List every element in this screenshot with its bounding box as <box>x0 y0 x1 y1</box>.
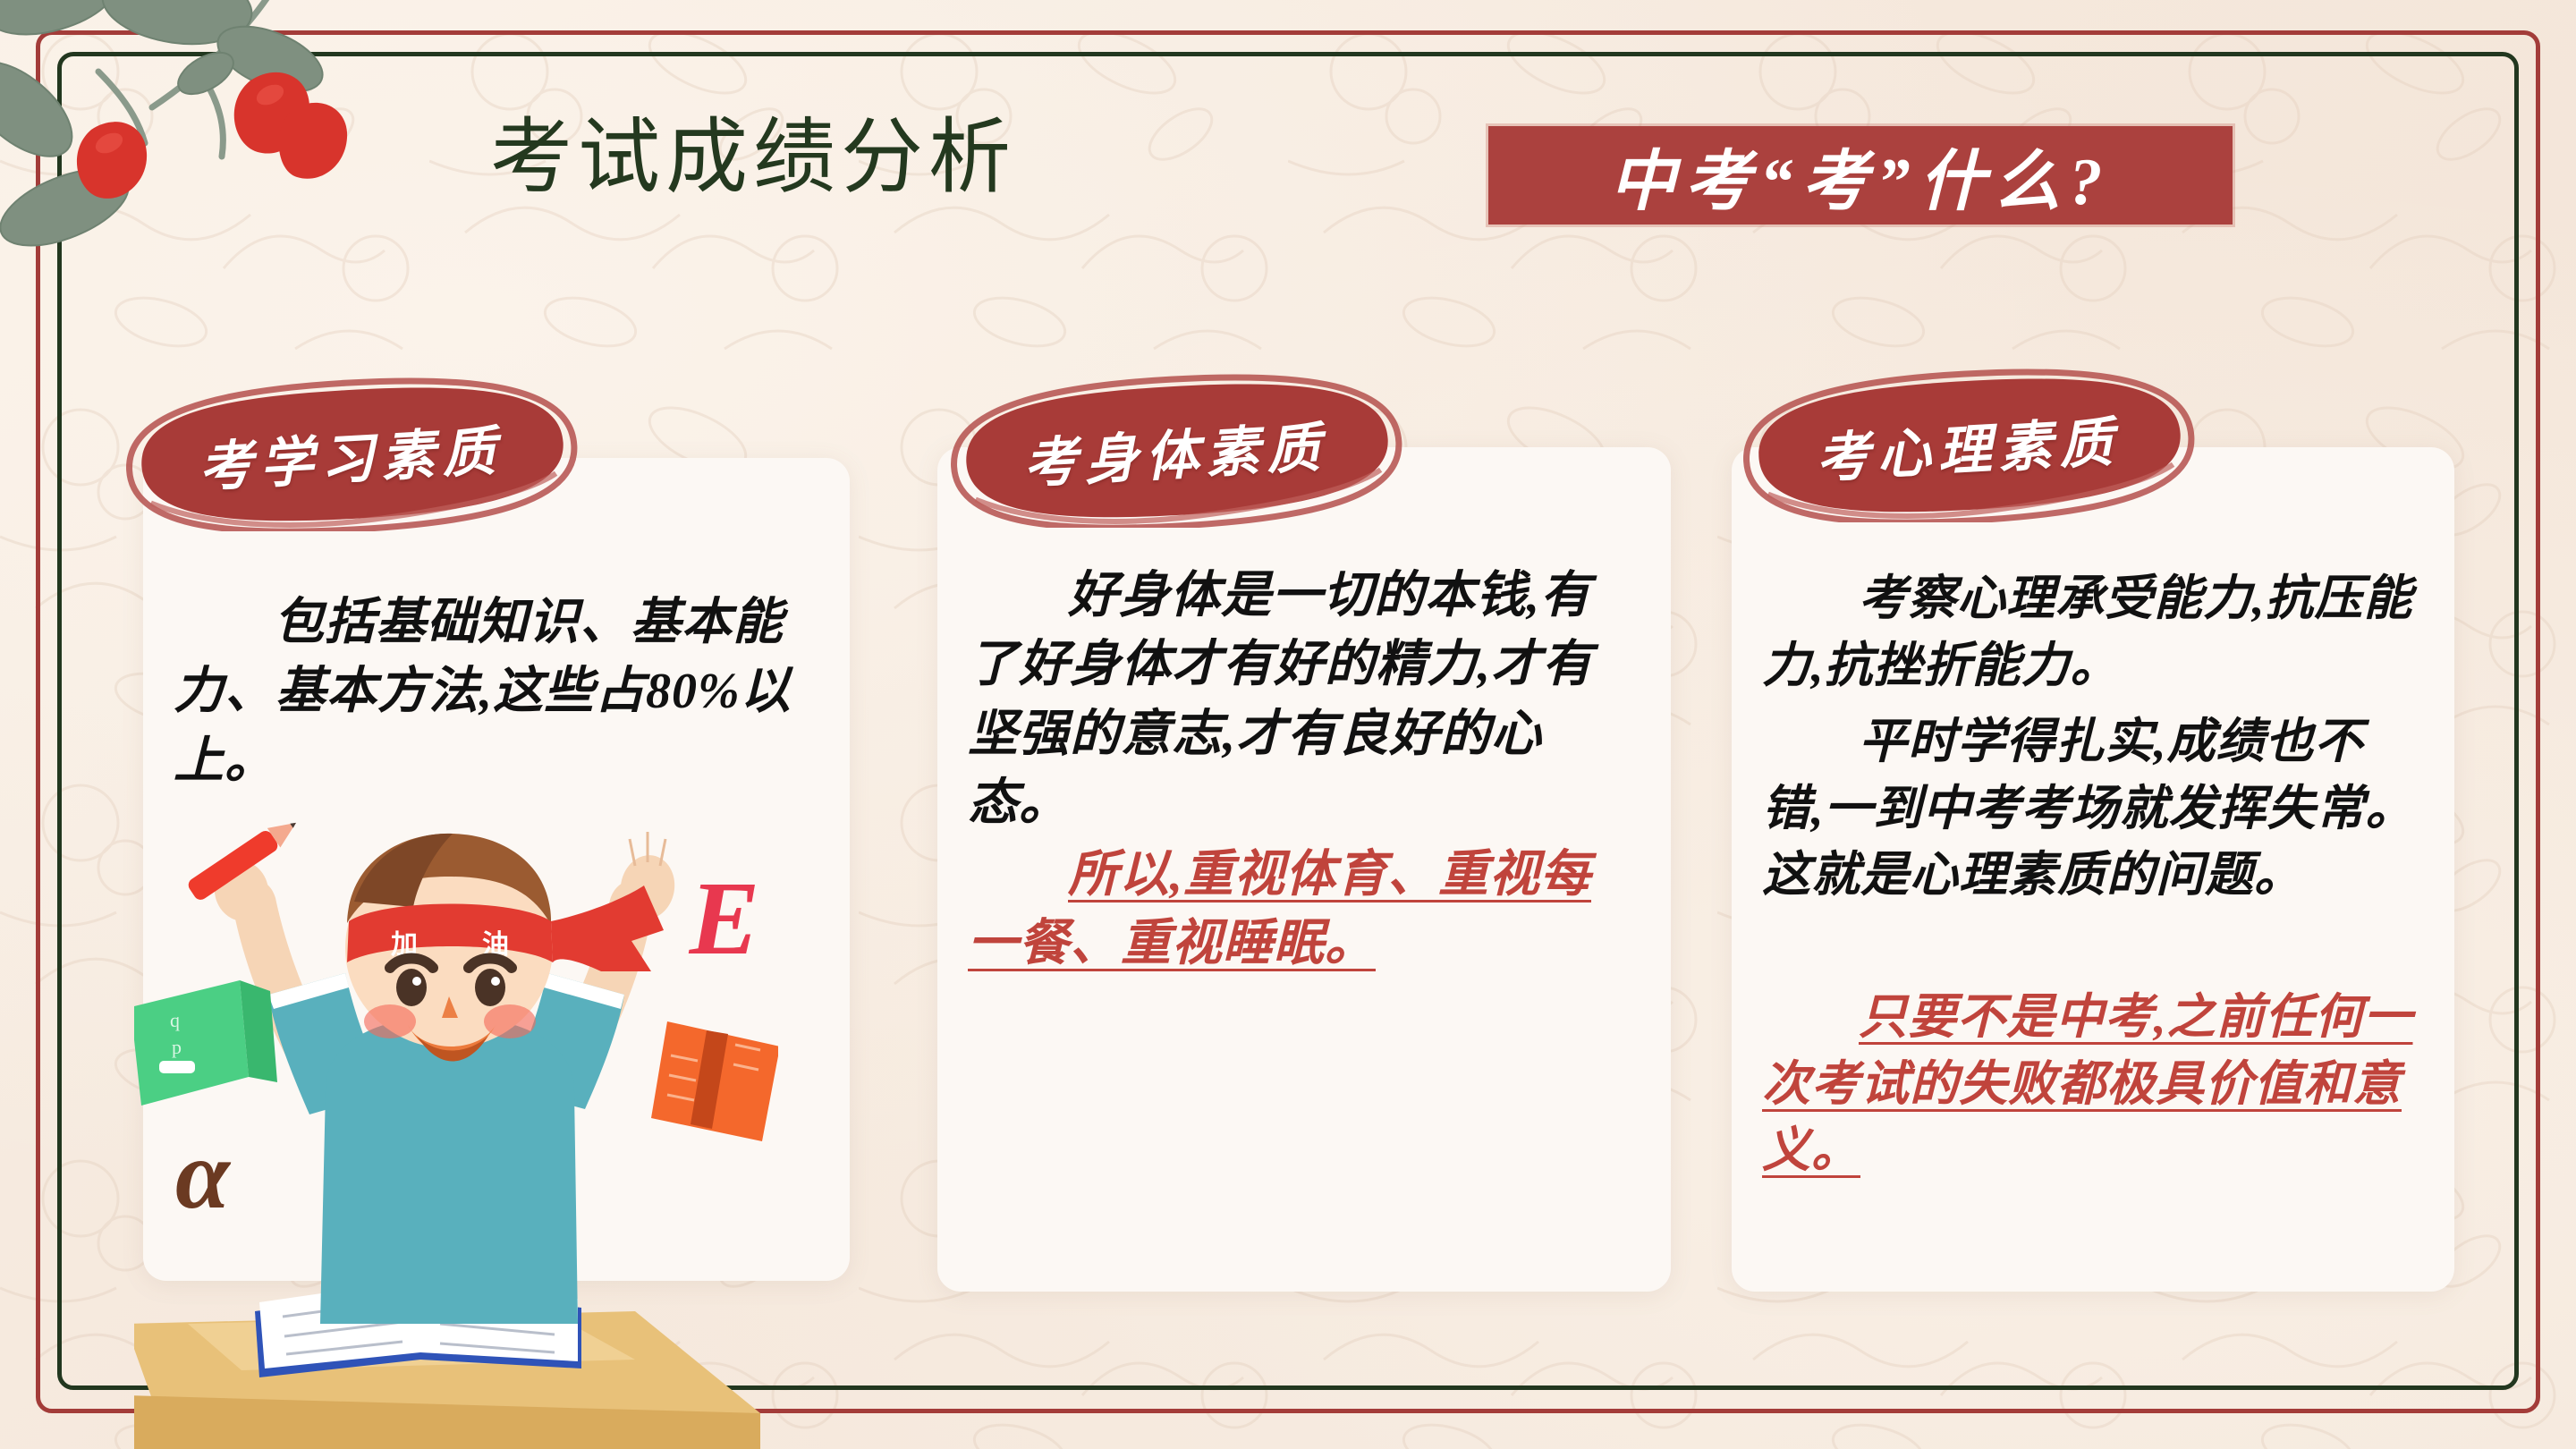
card-2-paragraph-1: 好身体是一切的本钱,有了好身体才有好的精力,才有坚强的意志,才有良好的心态。 <box>937 562 1671 838</box>
headline-banner-label: 中考“考”什么? <box>1610 128 2112 224</box>
card-3-paragraph-1: 考察心理承受能力,抗压能力,抗挫折能力。 <box>1732 565 2454 699</box>
book-orange-shape <box>651 1021 778 1141</box>
floating-letter-e: E <box>689 860 760 977</box>
floating-letter-alpha: α <box>175 1120 232 1229</box>
book-green-shape: q p <box>134 980 277 1106</box>
card-psychological-quality: 考心理素质 考察心理承受能力,抗压能力,抗挫折能力。 平时学得扎实,成绩也不错,… <box>1732 447 2454 1292</box>
card-3-paragraph-2: 平时学得扎实,成绩也不错,一到中考考场就发挥失常。这就是心理素质的问题。 <box>1732 708 2454 909</box>
card-2-paragraph-2: 所以,重视体育、重视每一餐、重视睡眠。 <box>937 841 1671 979</box>
badge-label-physical: 考身体素质 <box>923 360 1428 542</box>
badge-label-learning: 考学习素质 <box>98 364 604 546</box>
card-physical-quality: 考身体素质 好身体是一切的本钱,有了好身体才有好的精力,才有坚强的意志,才有良好… <box>937 447 1671 1292</box>
svg-text:p: p <box>172 1036 182 1058</box>
page-title: 考试成绩分析 <box>490 116 1016 199</box>
card-1-paragraph-1: 包括基础知识、基本能力、基本方法,这些占80%以上。 <box>143 589 850 796</box>
card-3-paragraph-3: 只要不是中考,之前任何一次考试的失败都极具价值和意义。 <box>1732 984 2454 1184</box>
badge-label-psychological: 考心理素质 <box>1716 355 2221 537</box>
headline-banner: 中考“考”什么? <box>1488 126 2233 225</box>
svg-text:q: q <box>170 1009 180 1031</box>
botanical-berry-decoration <box>0 0 402 268</box>
student-illustration: 加 油 q p E α <box>134 787 778 1449</box>
